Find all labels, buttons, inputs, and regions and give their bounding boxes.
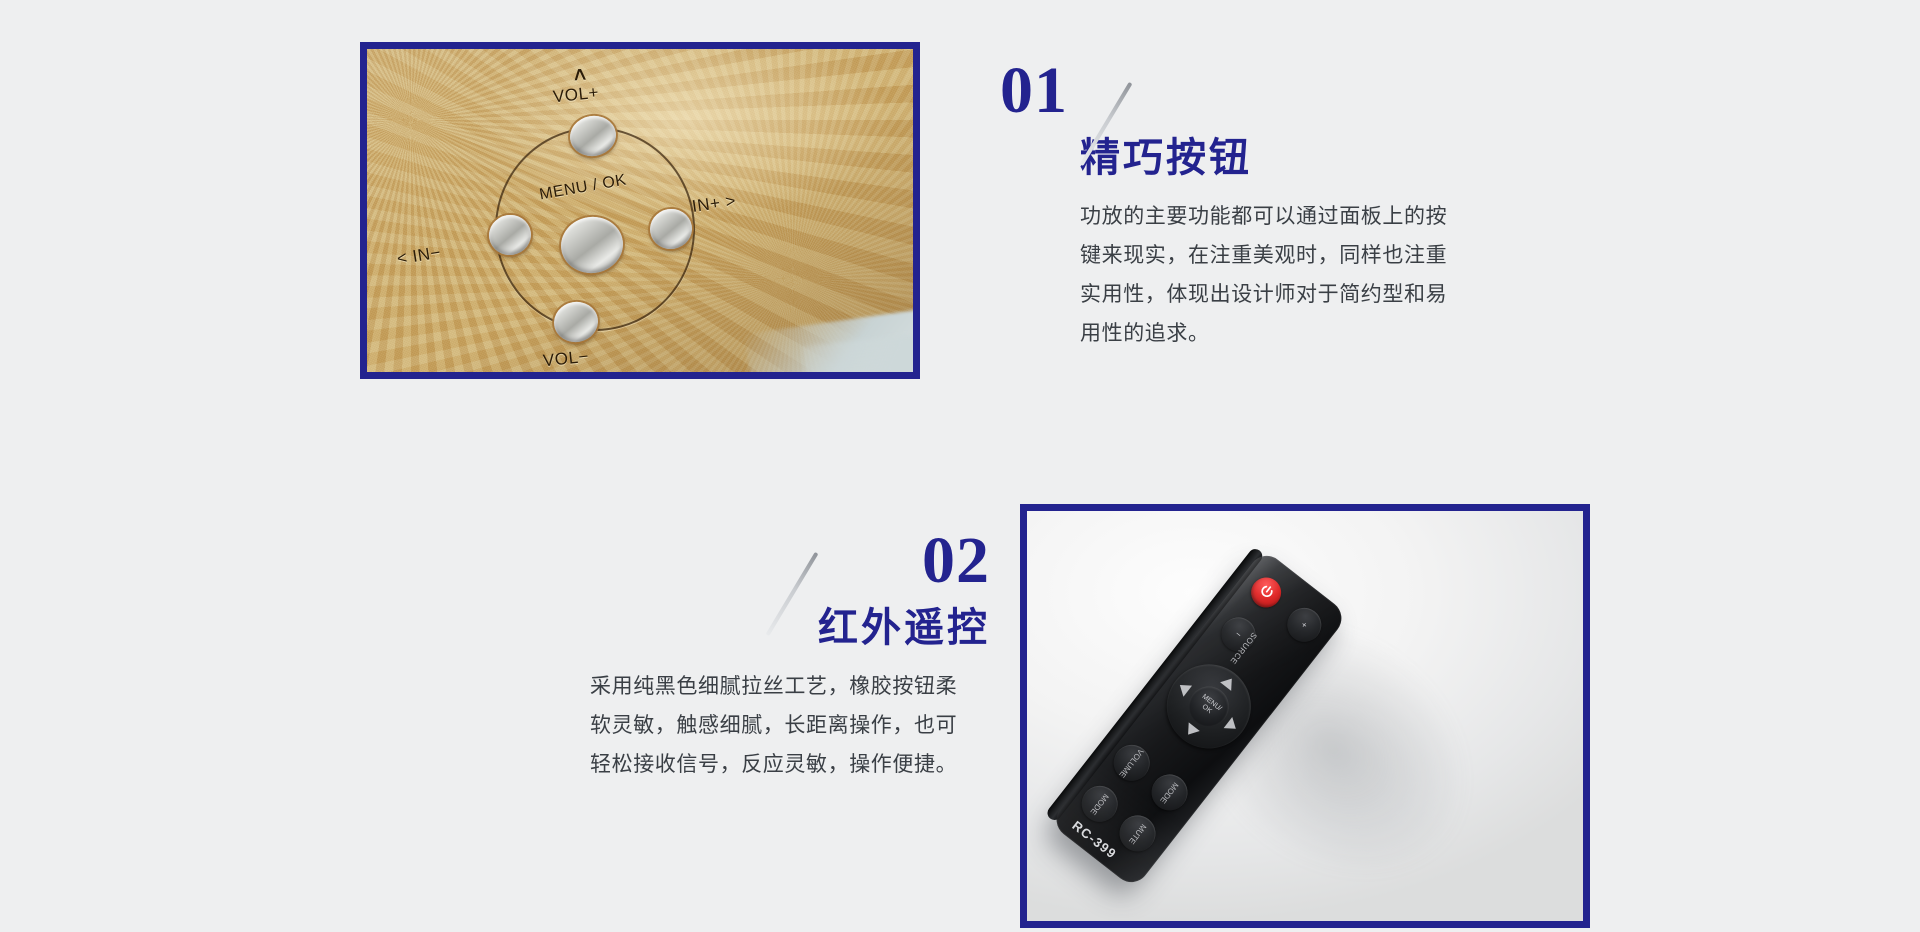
feature-02-number: 02 bbox=[922, 530, 990, 593]
feature-01-body-line: 键来现实，在注重美观时，同样也注重 bbox=[1080, 237, 1480, 276]
feature-02-body-line: 采用纯黑色细腻拉丝工艺，橡胶按钮柔 bbox=[590, 668, 990, 707]
feature-01-number: 01 bbox=[1000, 60, 1068, 123]
slash-divider-icon bbox=[766, 552, 819, 636]
remote-volume-label: VOLUME bbox=[1118, 747, 1146, 779]
arrow-left-icon[interactable] bbox=[1176, 679, 1192, 696]
panel-label-vol-down-caret: ∨ bbox=[560, 369, 580, 379]
feature-01-body-line: 功放的主要功能都可以通过面板上的按 bbox=[1080, 198, 1480, 237]
remote-mute-button[interactable]: MUTE bbox=[1112, 808, 1163, 859]
feature-02-body-line: 软灵敏，触感细腻，长距离操作，也可 bbox=[590, 707, 990, 746]
feature-02-body: 采用纯黑色细腻拉丝工艺，橡胶按钮柔 软灵敏，触感细腻，长距离操作，也可 轻松接收… bbox=[590, 668, 990, 785]
remote-plus-button[interactable]: + bbox=[1280, 601, 1328, 649]
arrow-right-icon[interactable] bbox=[1224, 717, 1240, 734]
remote-plus-label: + bbox=[1299, 619, 1309, 630]
feature-01-body-line: 用性的追求。 bbox=[1080, 315, 1480, 354]
arrow-up-icon[interactable] bbox=[1220, 674, 1237, 690]
remote-mode-button[interactable]: MODE bbox=[1144, 767, 1195, 818]
slash-divider-icon bbox=[1080, 82, 1133, 166]
feature-block-02: 02 红外遥控 采用纯黑色细腻拉丝工艺，橡胶按钮柔 软灵敏，触感细腻，长距离操作… bbox=[430, 530, 990, 785]
arrow-down-icon[interactable] bbox=[1183, 722, 1200, 738]
feature-02-number-row: 02 bbox=[430, 530, 990, 650]
feature-01-body-line: 实用性，体现出设计师对于简约型和易 bbox=[1080, 276, 1480, 315]
amplifier-panel-photo: ∧ VOL+ MENU / OK < IN− IN+ > VOL− ∨ bbox=[360, 42, 920, 379]
feature-block-01: 01 精巧按钮 功放的主要功能都可以通过面板上的按 键来现实，在注重美观时，同样… bbox=[1000, 60, 1560, 353]
remote-minus-label: − bbox=[1233, 629, 1243, 640]
remote-control-photo: − + SOURCE MENU/ OK VOLUME MODE bbox=[1020, 504, 1590, 928]
feature-01-body: 功放的主要功能都可以通过面板上的按 键来现实，在注重美观时，同样也注重 实用性，… bbox=[1080, 198, 1480, 353]
remote-power-button[interactable] bbox=[1245, 571, 1287, 613]
feature-02-body-line: 轻松接收信号，反应灵敏，操作便捷。 bbox=[590, 746, 990, 785]
power-icon bbox=[1255, 580, 1277, 602]
remote-mode-label: MODE bbox=[1159, 780, 1181, 804]
remote-mode-label-2: MODE bbox=[1089, 792, 1111, 816]
feature-01-number-row: 01 bbox=[1000, 60, 1560, 180]
product-feature-page: ∧ VOL+ MENU / OK < IN− IN+ > VOL− ∨ 01 精… bbox=[0, 0, 1920, 932]
remote-mute-label: MUTE bbox=[1127, 822, 1148, 845]
